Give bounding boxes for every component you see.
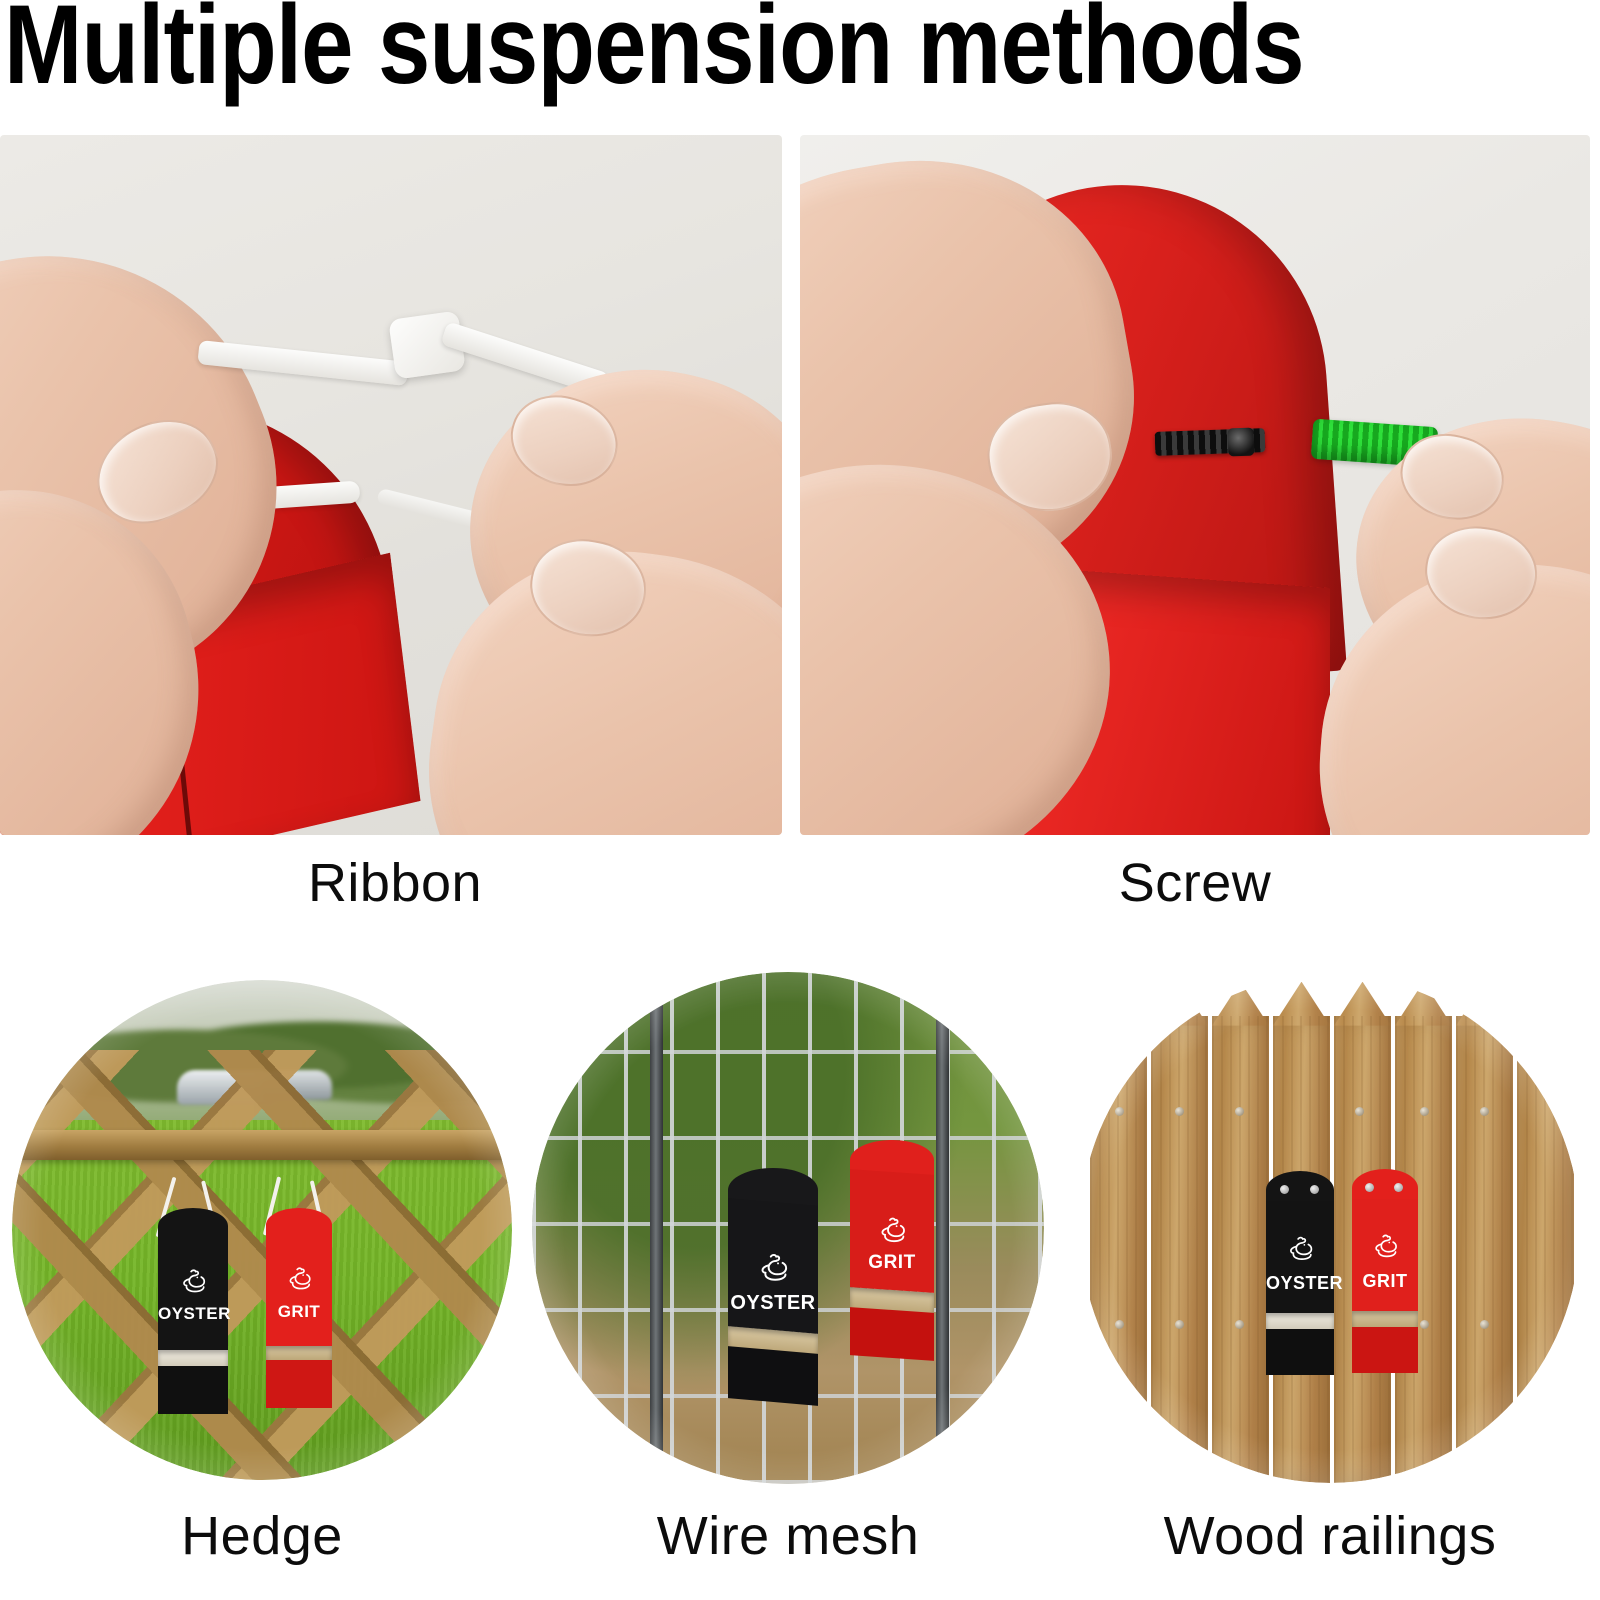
feeder-front-lip	[158, 1366, 228, 1414]
caption-screw: Screw	[800, 852, 1590, 914]
feeder-label: OYSTER	[158, 1304, 228, 1324]
feeder-label: OYSTER	[1266, 1273, 1334, 1294]
feeder-body	[266, 1234, 332, 1362]
fence-plank	[1456, 1016, 1513, 1483]
feeder-oyster: OYSTER	[1266, 1171, 1334, 1367]
chicken-hen-icon	[1367, 1231, 1404, 1261]
lattice-fence	[12, 1050, 512, 1480]
feeder-front-lip	[1352, 1327, 1418, 1373]
photo-ribbon-method	[0, 135, 782, 835]
fence-screw	[1420, 1107, 1429, 1116]
fence-plank	[1151, 1016, 1208, 1483]
page-title: Multiple suspension methods	[4, 0, 1304, 104]
feeder-label: GRIT	[1352, 1271, 1418, 1292]
feeder-front-lip	[266, 1360, 332, 1408]
chicken-hen-icon	[281, 1264, 317, 1293]
feeder-label: GRIT	[266, 1302, 332, 1322]
feeder-front-lip	[1266, 1329, 1334, 1375]
chicken-hen-icon	[872, 1214, 912, 1246]
mounting-screw	[1310, 1185, 1319, 1194]
top-photo-row	[0, 135, 1600, 835]
screw-head	[1228, 428, 1255, 457]
caption-wire-mesh: Wire mesh	[532, 1505, 1044, 1567]
chicken-hen-icon	[1281, 1233, 1319, 1264]
feeder-body	[158, 1236, 228, 1366]
fence-plank	[1212, 1016, 1269, 1483]
photo-wire-mesh-mount: OYSTER GRIT	[532, 972, 1044, 1484]
fence-screw	[1115, 1107, 1124, 1116]
feeder-label: OYSTER	[728, 1292, 818, 1315]
photo-hedge-mount: OYSTER GRIT	[12, 980, 512, 1480]
caption-wood-railings: Wood railings	[1080, 1505, 1580, 1567]
mounting-screw	[1280, 1185, 1289, 1194]
product-infographic: Multiple suspension methods	[0, 0, 1600, 1600]
fence-plank	[1090, 1016, 1147, 1483]
feeder-front-lip	[728, 1346, 818, 1406]
feeder-front-lip	[850, 1307, 934, 1361]
fence-post	[936, 972, 949, 1484]
fence-post	[650, 972, 663, 1484]
photo-screw-method	[800, 135, 1590, 835]
feeder-body	[1266, 1201, 1334, 1331]
feeder-oyster: OYSTER	[728, 1168, 818, 1378]
feeder-grit: GRIT	[1352, 1169, 1418, 1365]
caption-ribbon: Ribbon	[0, 852, 790, 914]
feeder-grit: GRIT	[850, 1140, 934, 1340]
fence-screw	[1480, 1107, 1489, 1116]
mounting-screw	[1394, 1183, 1403, 1192]
mounting-screw	[1365, 1183, 1374, 1192]
fence-screw	[1175, 1107, 1184, 1116]
fence-plank	[1517, 1016, 1574, 1483]
fence-screw	[1235, 1107, 1244, 1116]
photo-wood-railings-mount: OYSTER GRIT	[1080, 975, 1580, 1483]
caption-hedge: Hedge	[12, 1505, 512, 1567]
chicken-hen-icon	[174, 1266, 212, 1296]
chicken-hen-icon	[751, 1250, 795, 1285]
feeder-oyster: OYSTER	[158, 1208, 228, 1388]
fence-rail	[12, 1130, 512, 1160]
feeder-body	[1352, 1199, 1418, 1329]
feeder-label: GRIT	[850, 1252, 934, 1274]
feeder-grit: GRIT	[266, 1208, 332, 1384]
fence-screw	[1355, 1107, 1364, 1116]
